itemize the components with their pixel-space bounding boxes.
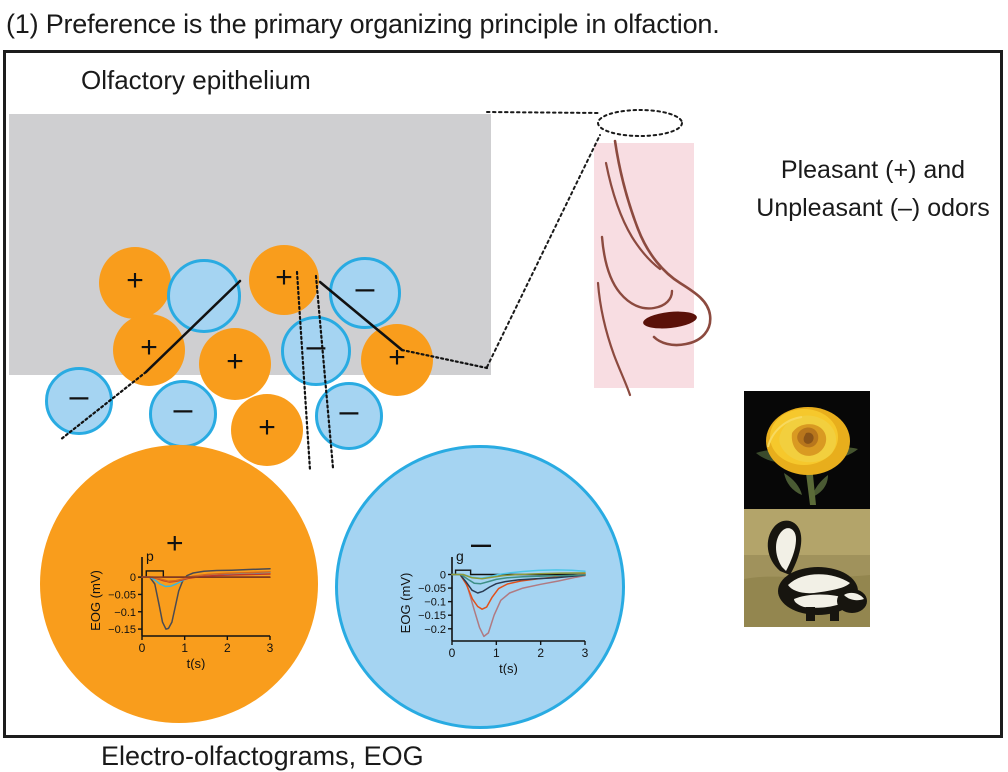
series-trace-mauve — [452, 575, 585, 637]
x-tick-label: 3 — [582, 646, 589, 660]
receptor-circle-pleasant: + — [99, 247, 171, 319]
y-axis-label: EOG (mV) — [398, 573, 413, 634]
y-tick-label: −0.15 — [418, 610, 446, 622]
x-axis-label: t(s) — [499, 661, 518, 675]
x-tick-label: 2 — [224, 641, 231, 655]
figure-caption: (1) Preference is the primary organizing… — [6, 2, 996, 46]
nose-illustration-icon — [576, 133, 736, 403]
y-tick-label: −0.1 — [424, 597, 446, 609]
x-tick-label: 1 — [493, 646, 500, 660]
receptor-sign: – — [174, 392, 193, 426]
receptor-sign: + — [275, 263, 293, 293]
eog-unpleasant-svg: 0−0.05−0.1−0.15−0.20123t(s)EOG (mV)g — [396, 545, 591, 675]
receptor-sign: + — [388, 343, 406, 373]
odor-description: Pleasant (+) and Unpleasant (–) odors — [742, 151, 1004, 227]
receptor-circle-unpleasant: – — [45, 367, 113, 435]
figure-frame: Olfactory epithelium ++–++–+––+– Pleasan… — [3, 50, 1003, 738]
y-tick-label: −0.2 — [424, 624, 446, 636]
y-tick-label: 0 — [440, 570, 446, 582]
x-tick-label: 0 — [139, 641, 146, 655]
y-tick-label: −0.05 — [108, 589, 136, 601]
receptor-sign: + — [258, 413, 276, 443]
receptor-circle-unpleasant: – — [329, 257, 401, 329]
odor-line-unpleasant: Unpleasant (–) odors — [742, 189, 1004, 227]
chart-title-letter: p — [146, 548, 154, 564]
x-tick-label: 1 — [181, 641, 188, 655]
receptor-sign: + — [226, 347, 244, 377]
eog-caption: Electro-olfactograms, EOG — [101, 741, 424, 772]
receptor-sign: + — [140, 333, 158, 363]
olfactory-epithelium-panel: ++–++–+––+– — [9, 114, 491, 375]
chart-title-letter: g — [456, 548, 464, 564]
y-tick-label: 0 — [130, 572, 136, 584]
receptor-circle-pleasant: + — [113, 314, 185, 386]
epithelium-title: Olfactory epithelium — [81, 65, 311, 96]
receptor-sign: – — [70, 379, 89, 413]
receptor-circle-pleasant: + — [249, 245, 319, 315]
receptor-circle-unpleasant: – — [315, 382, 383, 450]
receptor-circle-unpleasant: – — [281, 316, 351, 386]
receptor-sign: – — [356, 271, 375, 305]
rose-photo — [744, 391, 870, 509]
odor-line-pleasant: Pleasant (+) and — [742, 151, 1004, 189]
x-axis-label: t(s) — [187, 656, 206, 670]
receptor-circle-pleasant: + — [199, 328, 271, 400]
y-axis-label: EOG (mV) — [88, 570, 103, 631]
receptor-circle-unpleasant: – — [149, 380, 217, 448]
y-tick-label: −0.05 — [418, 583, 446, 595]
eog-chart-pleasant: 0−0.05−0.1−0.150123t(s)EOG (mV)p — [86, 545, 276, 670]
receptor-sign: – — [340, 394, 359, 428]
x-tick-label: 3 — [267, 641, 274, 655]
x-tick-label: 0 — [449, 646, 456, 660]
receptor-circle-pleasant: + — [231, 394, 303, 466]
receptor-sign: + — [126, 266, 144, 296]
skunk-photo — [744, 509, 870, 627]
receptor-sign: – — [307, 329, 326, 363]
x-tick-label: 2 — [537, 646, 544, 660]
receptor-circle-pleasant: + — [361, 324, 433, 396]
eog-pleasant-svg: 0−0.05−0.1−0.150123t(s)EOG (mV)p — [86, 545, 276, 670]
y-tick-label: −0.1 — [114, 607, 136, 619]
y-tick-label: −0.15 — [108, 624, 136, 636]
receptor-circle-unpleasant — [167, 259, 241, 333]
eog-chart-unpleasant: 0−0.05−0.1−0.15−0.20123t(s)EOG (mV)g — [396, 545, 591, 675]
